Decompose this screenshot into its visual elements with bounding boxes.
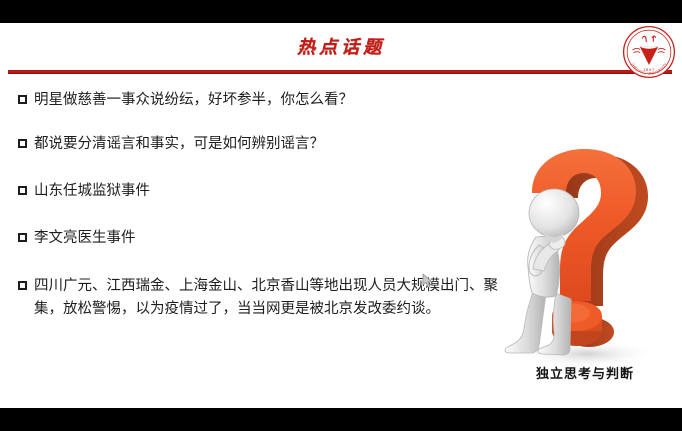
list-item: 山东任城监狱事件 bbox=[0, 180, 500, 202]
video-player[interactable]: 热点话题 1897 bbox=[0, 0, 682, 431]
square-bullet-icon bbox=[18, 95, 27, 104]
presentation-slide: 热点话题 1897 bbox=[0, 23, 682, 408]
square-bullet-icon bbox=[18, 281, 27, 290]
list-item: 李文亮医生事件 bbox=[0, 227, 500, 249]
list-item-label: 明星做慈善一事众说纷纭，好坏参半，你怎么看？ bbox=[34, 89, 500, 111]
list-item-label: 都说要分清谣言和事实，可是如何辨别谣言？ bbox=[34, 133, 500, 155]
title-divider bbox=[8, 70, 672, 74]
topic-list: 明星做慈善一事众说纷纭，好坏参半，你怎么看？ 都说要分清谣言和事实，可是如何辨别… bbox=[0, 89, 500, 322]
list-item: 明星做慈善一事众说纷纭，好坏参半，你怎么看？ bbox=[0, 89, 500, 111]
zhejiang-university-seal-icon: 1897 ZHEJIANG UNIVERSITY bbox=[622, 25, 676, 79]
slide-header: 热点话题 bbox=[0, 23, 682, 79]
illustration-caption: 独立思考与判断 bbox=[492, 363, 678, 382]
square-bullet-icon bbox=[18, 139, 27, 148]
letterbox-top bbox=[0, 0, 682, 23]
list-item-label: 四川广元、江西瑞金、上海金山、北京香山等地出现人员大规模出门、聚集，放松警惕，以… bbox=[34, 275, 510, 322]
square-bullet-icon bbox=[18, 233, 27, 242]
question-mark-thinker-icon bbox=[492, 141, 682, 381]
list-item: 都说要分清谣言和事实，可是如何辨别谣言？ bbox=[0, 133, 500, 155]
list-item-label: 山东任城监狱事件 bbox=[34, 180, 500, 202]
list-item: 四川广元、江西瑞金、上海金山、北京香山等地出现人员大规模出门、聚集，放松警惕，以… bbox=[0, 275, 510, 322]
svg-text:1897: 1897 bbox=[643, 67, 655, 72]
square-bullet-icon bbox=[18, 186, 27, 195]
letterbox-bottom bbox=[0, 408, 682, 431]
list-item-label: 李文亮医生事件 bbox=[34, 227, 500, 249]
page-title: 热点话题 bbox=[0, 33, 682, 59]
